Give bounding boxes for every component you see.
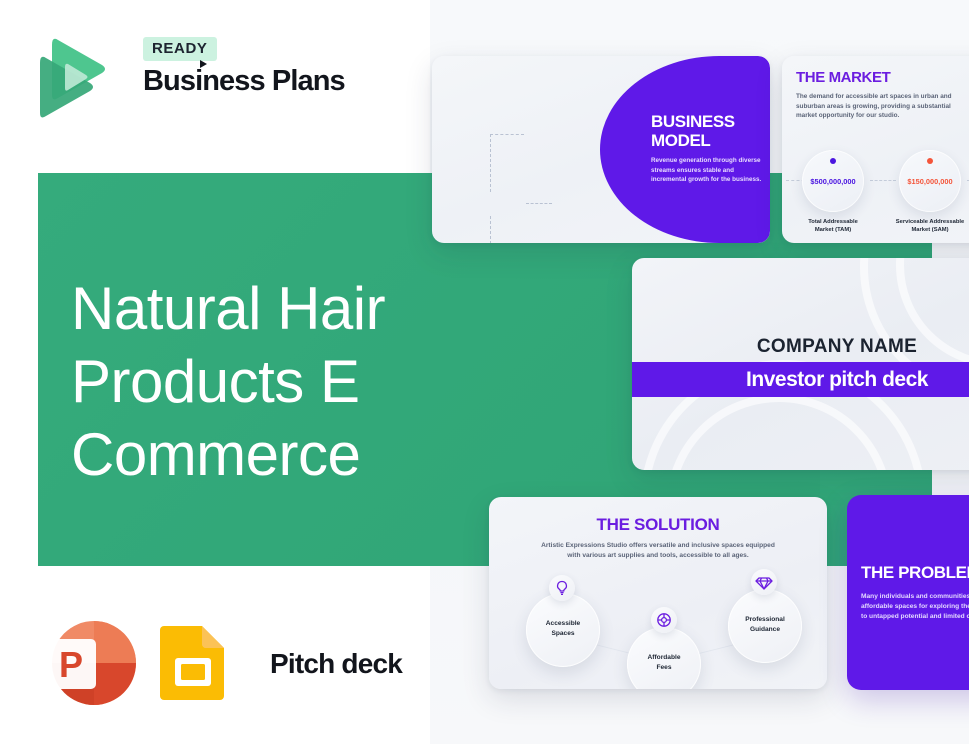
- company-name: COMPANY NAME: [632, 336, 969, 358]
- play-triangle-accent-icon: [200, 60, 207, 68]
- solution-body: Artistic Expressions Studio offers versa…: [537, 541, 779, 561]
- caption-line-2: Market (SAM): [911, 227, 948, 233]
- solution-title: THE SOLUTION: [489, 515, 827, 535]
- brand-lockup: READY Business Plans: [38, 33, 418, 123]
- solution-node-accessible-spaces[interactable]: Accessible Spaces: [526, 593, 600, 667]
- poster-canvas: READY Business Plans Natural Hair Produc…: [0, 0, 969, 744]
- google-slides-icon: [154, 624, 232, 702]
- title-line-2: MODEL: [651, 131, 710, 150]
- powerpoint-icon: P: [42, 616, 137, 711]
- brand-text: READY Business Plans: [143, 37, 345, 98]
- metric-dot-icon: [927, 158, 933, 164]
- market-body: The demand for accessible art spaces in …: [796, 92, 958, 121]
- hero-title-line-1: Natural Hair: [71, 272, 471, 345]
- investor-pitch-deck-bar: Investor pitch deck: [632, 362, 969, 397]
- play-triangle-logo: [38, 36, 108, 118]
- lightbulb-icon: [549, 575, 575, 601]
- title-line-1: BUSINESS: [651, 112, 735, 131]
- connector-line-bottom: [490, 216, 491, 243]
- slide-card-solution[interactable]: THE SOLUTION Artistic Expressions Studio…: [489, 497, 827, 689]
- problem-title: THE PROBLEM: [861, 563, 969, 583]
- node-label: Accessible Spaces: [530, 619, 596, 638]
- metric-value: $500,000,000: [794, 177, 872, 186]
- metric-dot-icon: [830, 158, 836, 164]
- hero-title-line-2: Products E: [71, 345, 471, 418]
- market-title: THE MARKET: [796, 69, 890, 86]
- business-model-title: BUSINESS MODEL: [651, 112, 735, 150]
- svg-text:P: P: [59, 644, 83, 685]
- market-metric-tam[interactable]: $500,000,000 Total Addressable Market (T…: [802, 150, 864, 212]
- solution-link-2: [694, 644, 737, 656]
- node-label: Affordable Fees: [631, 653, 697, 672]
- target-circle-icon: [651, 607, 677, 633]
- market-metric-sam[interactable]: $150,000,000 Serviceable Addressable Mar…: [899, 150, 961, 212]
- metric-caption: Total Addressable Market (TAM): [788, 218, 878, 234]
- hero-title-line-3: Commerce: [71, 418, 471, 491]
- connector-line-top-h: [490, 134, 524, 135]
- metric-value: $150,000,000: [891, 177, 969, 186]
- brand-name: Business Plans: [143, 65, 345, 98]
- problem-body: Many individuals and communities lack ac…: [861, 592, 969, 623]
- solution-node-professional-guidance[interactable]: Professional Guidance: [728, 589, 802, 663]
- metric-caption: Serviceable Addressable Market (SAM): [885, 218, 969, 234]
- ready-badge: READY: [143, 37, 217, 61]
- brand-name-text: Business Plans: [143, 65, 345, 97]
- node-label: Professional Guidance: [732, 615, 798, 634]
- caption-line-1: Serviceable Addressable: [896, 219, 964, 225]
- hero-title: Natural Hair Products E Commerce: [71, 272, 471, 491]
- connector-line-mid-h: [526, 203, 552, 204]
- caption-line-2: Market (TAM): [815, 227, 851, 233]
- business-model-body: Revenue generation through diverse strea…: [651, 156, 763, 185]
- caption-line-1: Total Addressable: [808, 219, 858, 225]
- diamond-icon: [751, 569, 777, 595]
- connector-line-top: [490, 134, 491, 192]
- slide-card-market[interactable]: THE MARKET The demand for accessible art…: [782, 56, 969, 243]
- slide-card-problem[interactable]: THE PROBLEM Many individuals and communi…: [847, 495, 969, 690]
- slide-card-company-name[interactable]: COMPANY NAME Investor pitch deck: [632, 258, 969, 470]
- format-label: Pitch deck: [270, 648, 402, 680]
- solution-node-affordable-fees[interactable]: Affordable Fees: [627, 627, 701, 689]
- investor-pitch-deck-label: Investor pitch deck: [632, 362, 969, 397]
